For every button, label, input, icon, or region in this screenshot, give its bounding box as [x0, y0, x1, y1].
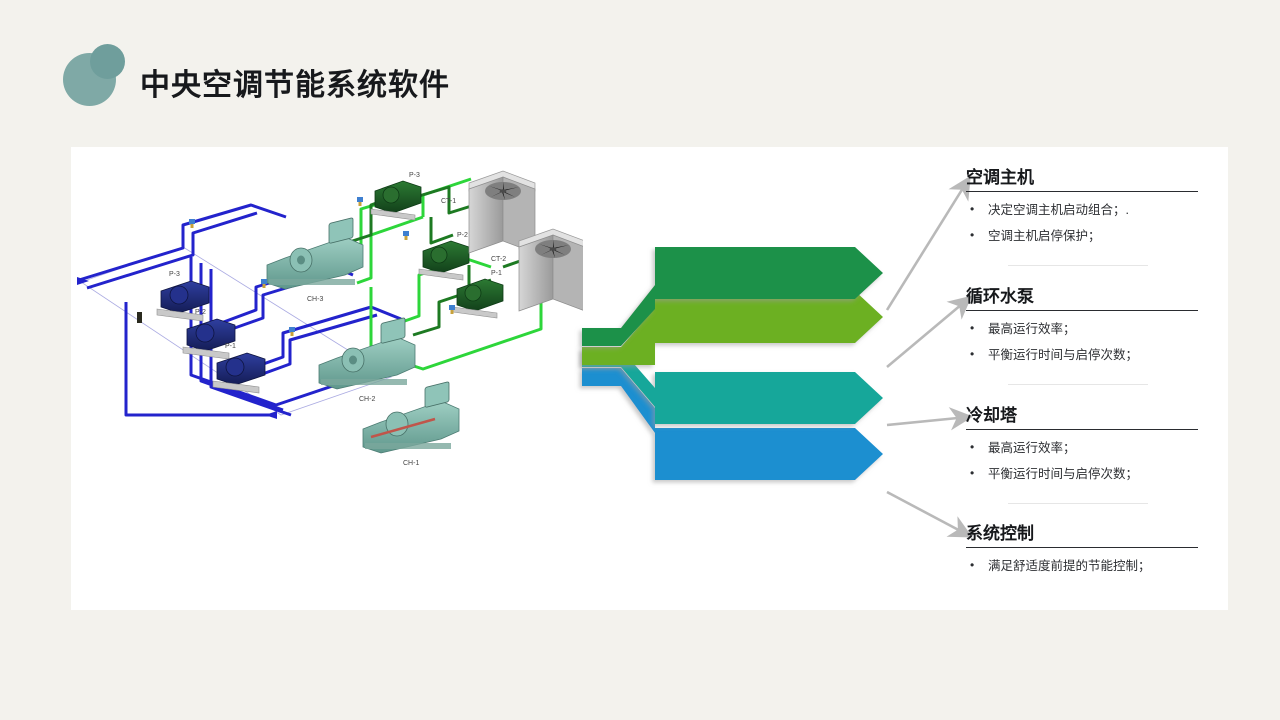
bullet-item: 满足舒适度前提的节能控制； [966, 560, 1198, 574]
section-heading: 空调主机 [966, 163, 1198, 192]
logo-circle-small-icon [90, 44, 125, 79]
svg-text:CT-1: CT-1 [441, 198, 456, 205]
hvac-schematic-diagram: CH-3 CH-2 CH-1 [71, 147, 583, 610]
section-tower: 冷却塔 最高运行效率； 平衡运行时间与启停次数； [966, 401, 1198, 482]
arrow-to-tower [887, 417, 968, 425]
section-host: 空调主机 决定空调主机启动组合；. 空调主机启停保护； [966, 163, 1198, 244]
logo [63, 44, 127, 108]
content-card: CH-3 CH-2 CH-1 [71, 147, 1228, 610]
section-divider [1008, 265, 1148, 266]
svg-text:CH-2: CH-2 [359, 396, 375, 403]
section-heading: 冷却塔 [966, 401, 1198, 430]
section-pump: 循环水泵 最高运行效率； 平衡运行时间与启停次数； [966, 282, 1198, 363]
svg-text:CH-3: CH-3 [307, 296, 323, 303]
svg-text:P-2: P-2 [195, 309, 206, 316]
bullet-item: 平衡运行时间与启停次数； [966, 468, 1198, 482]
svg-text:P-3: P-3 [169, 271, 180, 278]
bullet-item: 平衡运行时间与启停次数； [966, 349, 1198, 363]
bullet-item: 最高运行效率； [966, 323, 1198, 337]
bullet-item: 最高运行效率； [966, 442, 1198, 456]
bullet-item: 决定空调主机启动组合；. [966, 204, 1198, 218]
banner-ribbons [571, 247, 911, 547]
bullet-item: 空调主机启停保护； [966, 230, 1198, 244]
arrow-to-host [887, 180, 968, 310]
section-bullets: 满足舒适度前提的节能控制； [966, 560, 1198, 574]
section-bullets: 最高运行效率； 平衡运行时间与启停次数； [966, 442, 1198, 482]
svg-text:CH-1: CH-1 [403, 460, 419, 467]
section-divider [1008, 384, 1148, 385]
section-bullets: 最高运行效率； 平衡运行时间与启停次数； [966, 323, 1198, 363]
section-heading: 系统控制 [966, 519, 1198, 548]
svg-text:P-2: P-2 [457, 232, 468, 239]
svg-text:CT-2: CT-2 [491, 256, 506, 263]
arrow-to-control [887, 492, 968, 535]
svg-text:P-3: P-3 [409, 172, 420, 179]
svg-text:P-1: P-1 [225, 343, 236, 350]
section-control: 系统控制 满足舒适度前提的节能控制； [966, 519, 1198, 574]
svg-text:P-1: P-1 [491, 270, 502, 277]
arrow-to-pump [887, 299, 968, 367]
section-bullets: 决定空调主机启动组合；. 空调主机启停保护； [966, 204, 1198, 244]
feature-sections: 空调主机 决定空调主机启动组合；. 空调主机启停保护； 循环水泵 最高运行效率；… [966, 147, 1228, 610]
page-title: 中央空调节能系统软件 [140, 60, 450, 104]
section-divider [1008, 503, 1148, 504]
slide-header: 中央空调节能系统软件 [0, 0, 1280, 140]
section-heading: 循环水泵 [966, 282, 1198, 311]
